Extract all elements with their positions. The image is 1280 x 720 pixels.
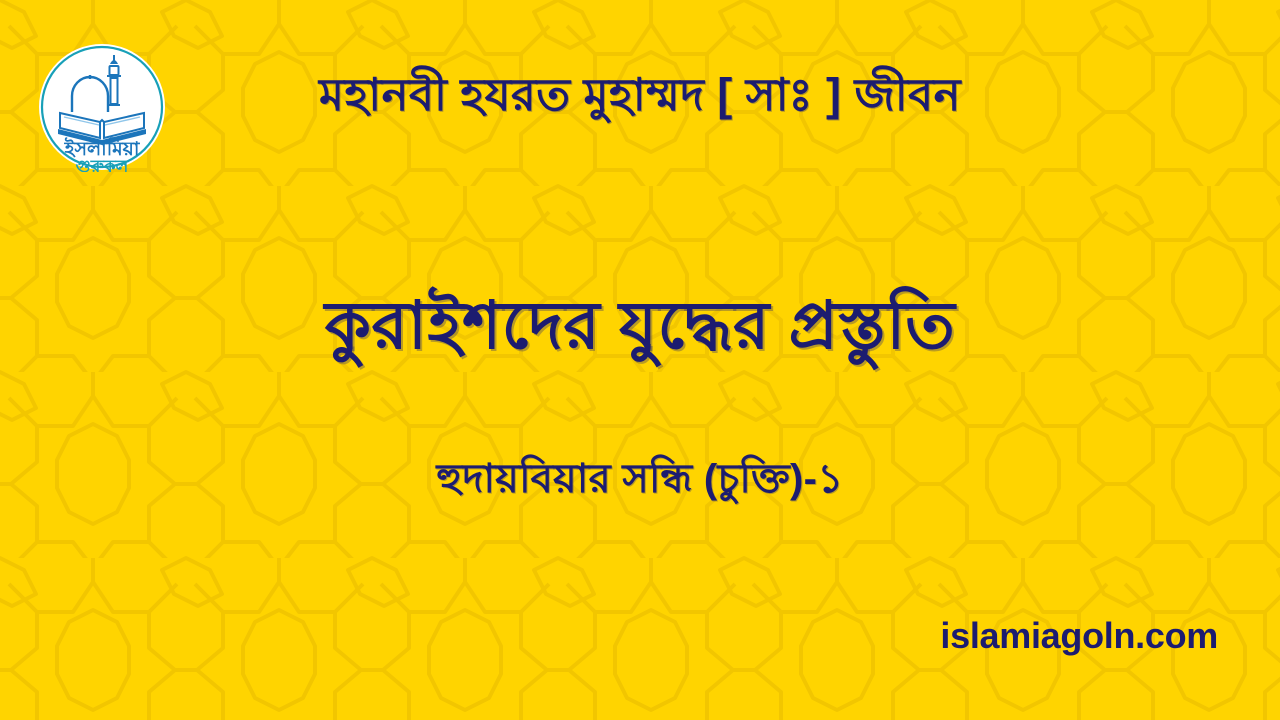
site-url-text: islamiagoln.com bbox=[940, 615, 1218, 656]
subtitle: হুদায়বিয়ার সন্ধি (চুক্তি)-১ bbox=[0, 455, 1280, 503]
header-title-text: মহানবী হযরত মুহাম্মদ [ সাঃ ] জীবন bbox=[319, 69, 961, 121]
islamia-gurukul-logo[interactable]: ইসলামিয়া গুরুকুল bbox=[38, 42, 166, 172]
main-title: কুরাইশদের যুদ্ধের প্রস্তুতি bbox=[0, 288, 1280, 364]
site-url-watermark[interactable]: islamiagoln.com bbox=[940, 618, 1218, 654]
slide-canvas: ইসলামিয়া গুরুকুল মহানবী হযরত মুহাম্মদ [… bbox=[0, 0, 1280, 720]
logo-text-line2: গুরুকুল bbox=[76, 157, 130, 172]
header-title: মহানবী হযরত মুহাম্মদ [ সাঃ ] জীবন bbox=[180, 58, 1100, 132]
subtitle-text: হুদায়বিয়ার সন্ধি (চুক্তি)-১ bbox=[437, 457, 844, 501]
main-title-text: কুরাইশদের যুদ্ধের প্রস্তুতি bbox=[325, 288, 956, 362]
